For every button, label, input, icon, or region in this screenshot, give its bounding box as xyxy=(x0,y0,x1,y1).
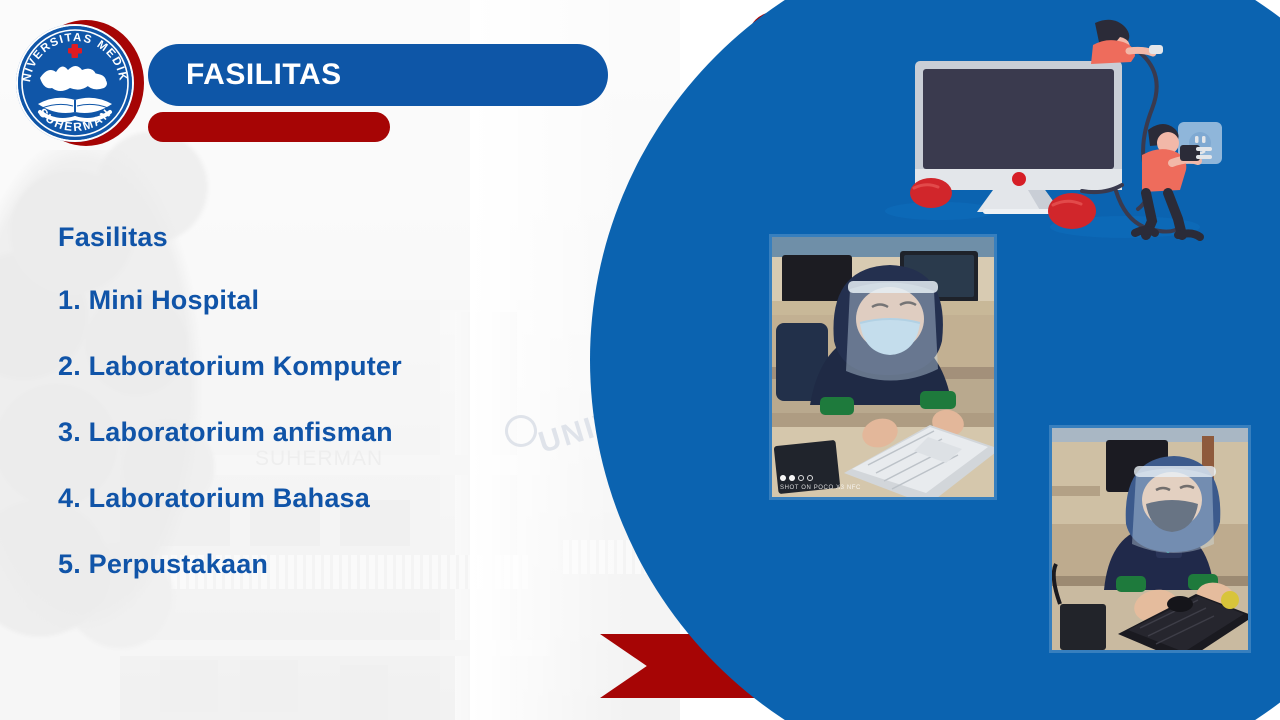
facilities-list: Fasilitas 1. Mini Hospital 2. Laboratori… xyxy=(58,222,578,615)
photo-watermark-text: SHOT ON POCO X3 NFC xyxy=(780,485,861,491)
photo-watermark-dots xyxy=(780,475,813,481)
photo-computer-lab-student-2 xyxy=(1052,428,1248,650)
list-item: 2. Laboratorium Komputer xyxy=(58,351,578,382)
slide-title-text: FASILITAS xyxy=(186,58,342,92)
presentation-slide: SUHERMAN UNIVERSITAS xyxy=(0,0,1280,720)
photo-computer-lab-student-1: SHOT ON POCO X3 NFC xyxy=(772,237,994,497)
facilities-list-heading: Fasilitas xyxy=(58,222,578,253)
logo-seal-svg: UNIVERSITAS MEDIKA SUHERMAN xyxy=(16,24,134,142)
list-item: 4. Laboratorium Bahasa xyxy=(58,483,578,514)
photo-1-svg xyxy=(772,237,994,497)
list-item: 1. Mini Hospital xyxy=(58,285,578,316)
list-item: 3. Laboratorium anfisman xyxy=(58,417,578,448)
illustration-svg xyxy=(880,15,1280,250)
building-door xyxy=(340,665,388,720)
list-item: 5. Perpustakaan xyxy=(58,549,578,580)
slide-title-bar: FASILITAS xyxy=(148,44,608,106)
university-logo: UNIVERSITAS MEDIKA SUHERMAN xyxy=(12,14,148,150)
computer-setup-illustration xyxy=(880,15,1280,250)
title-underbar-red xyxy=(148,112,390,142)
photo-2-svg xyxy=(1052,428,1248,650)
